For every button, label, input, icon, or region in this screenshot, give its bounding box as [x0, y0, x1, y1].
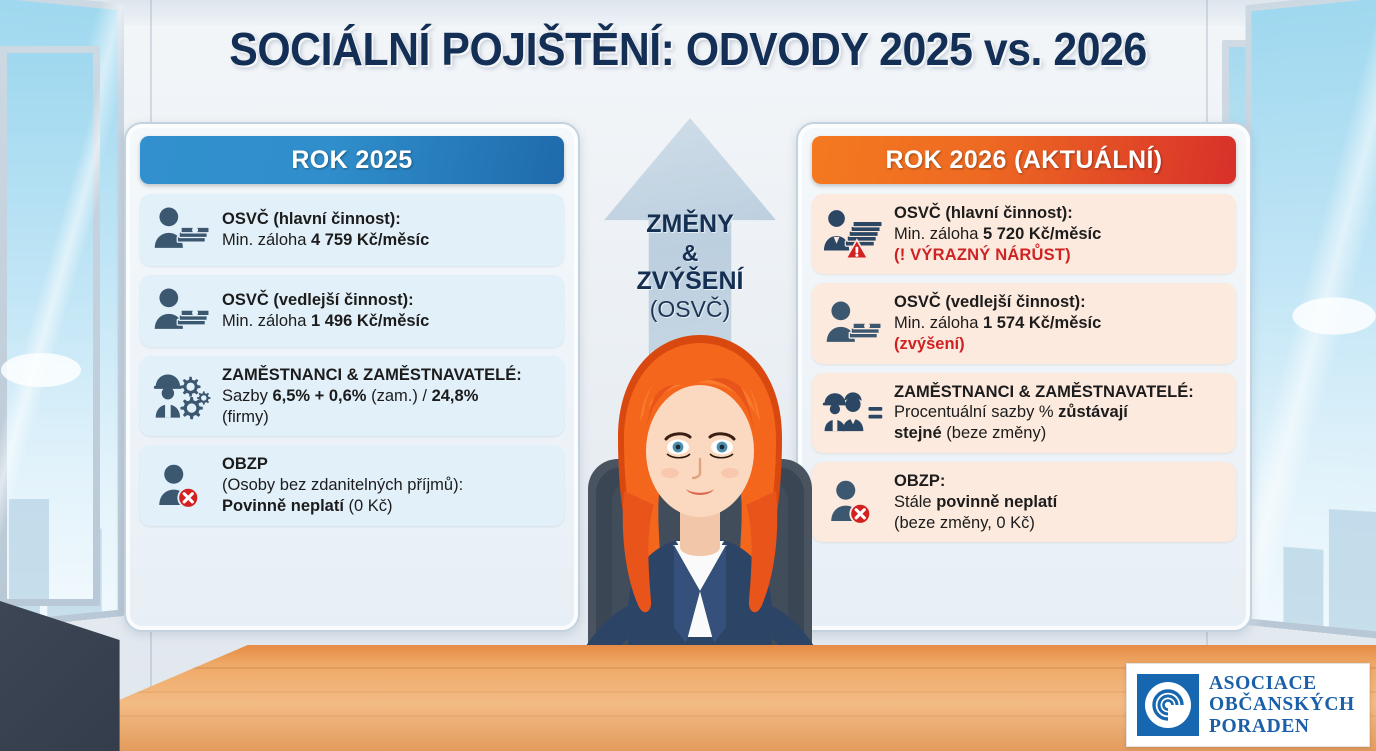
spiral-circle-icon — [1137, 674, 1199, 736]
card-osvc-hlavni-2026[interactable]: OSVČ (hlavní činnost): Min. záloha 5 720… — [812, 194, 1236, 274]
panel-header-2026: ROK 2026 (AKTUÁLNÍ) — [812, 136, 1236, 184]
card-line2: (Osoby bez zdanitelných příjmů): — [222, 475, 463, 496]
card-text: OSVČ (hlavní činnost): Min. záloha 5 720… — [894, 203, 1101, 265]
card-line2: Min. záloha 4 759 Kč/měsíc — [222, 230, 429, 251]
card-line3: (beze změny, 0 Kč) — [894, 513, 1057, 534]
card-text: OSVČ (hlavní činnost): Min. záloha 4 759… — [222, 209, 429, 251]
card-line3-alert: (zvýšení) — [894, 334, 1101, 355]
infographic-canvas: SOCIÁLNÍ POJIŠTĚNÍ: ODVODY 2025 vs. 2026… — [0, 0, 1376, 751]
card-line2: Min. záloha 1 574 Kč/měsíc — [894, 313, 1101, 334]
person-blocked-icon — [150, 459, 212, 513]
card-title: OBZP — [222, 454, 463, 475]
card-title: ZAMĚSTNANCI & ZAMĚSTNAVATELÉ: — [222, 365, 522, 386]
logo-wordmark: ASOCIACE OBČANSKÝCH PORADEN — [1209, 673, 1355, 736]
card-line2: Procentuální sazby % zůstávají — [894, 402, 1194, 423]
logo-line-1: ASOCIACE — [1209, 673, 1355, 694]
card-title: OSVČ (vedlejší činnost): — [222, 290, 429, 311]
window-glass — [1252, 0, 1376, 632]
card-text: OBZP (Osoby bez zdanitelných příjmů): Po… — [222, 454, 463, 516]
building-shape — [1283, 547, 1323, 626]
card-text: OBZP: Stále povinně neplatí (beze změny,… — [894, 471, 1057, 533]
card-line3: stejné (beze změny) — [894, 423, 1194, 444]
card-line3-alert: (! VÝRAZNÝ NÁRŮST) — [894, 245, 1101, 266]
window-left-inner — [0, 46, 100, 606]
organization-logo[interactable]: ASOCIACE OBČANSKÝCH PORADEN — [1126, 663, 1370, 747]
card-osvc-hlavni-2025[interactable]: OSVČ (hlavní činnost): Min. záloha 4 759… — [140, 194, 564, 266]
card-line3: Povinně neplatí (0 Kč) — [222, 496, 463, 517]
businessman-with-money-stack-warning-icon — [822, 207, 884, 261]
card-line2: Sazby 6,5% + 0,6% (zam.) / 24,8% — [222, 386, 522, 407]
building-shape — [1329, 509, 1376, 632]
worker-with-gears-icon — [150, 369, 212, 423]
card-text: ZAMĚSTNANCI & ZAMĚSTNAVATELÉ: Procentuál… — [894, 382, 1194, 444]
person-with-cash-icon — [150, 284, 212, 338]
card-line2: Stále povinně neplatí — [894, 492, 1057, 513]
window-glass — [7, 53, 93, 599]
window-right-outer — [1245, 0, 1376, 640]
logo-line-2: OBČANSKÝCH — [1209, 694, 1355, 715]
card-line3: (firmy) — [222, 407, 522, 428]
arrow-line-1: ZMĚNY — [604, 210, 776, 240]
card-line2: Min. záloha 5 720 Kč/měsíc — [894, 224, 1101, 245]
person-with-cash-icon — [150, 203, 212, 257]
card-title: ZAMĚSTNANCI & ZAMĚSTNAVATELÉ: — [894, 382, 1194, 403]
card-line2: Min. záloha 1 496 Kč/měsíc — [222, 311, 429, 332]
arrow-line-3: ZVÝŠENÍ — [604, 267, 776, 297]
page-title: SOCIÁLNÍ POJIŠTĚNÍ: ODVODY 2025 vs. 2026 — [48, 22, 1328, 76]
building-shape — [9, 499, 49, 599]
arrow-label: ZMĚNY & ZVÝŠENÍ (OSVČ) — [604, 210, 776, 323]
card-text: OSVČ (vedlejší činnost): Min. záloha 1 5… — [894, 292, 1101, 354]
card-text: ZAMĚSTNANCI & ZAMĚSTNAVATELÉ: Sazby 6,5%… — [222, 365, 522, 427]
card-title: OBZP: — [894, 471, 1057, 492]
card-title: OSVČ (vedlejší činnost): — [894, 292, 1101, 313]
card-title: OSVČ (hlavní činnost): — [894, 203, 1101, 224]
card-title: OSVČ (hlavní činnost): — [222, 209, 429, 230]
panel-header-2025: ROK 2025 — [140, 136, 564, 184]
card-text: OSVČ (vedlejší činnost): Min. záloha 1 4… — [222, 290, 429, 332]
arrow-line-2: & — [604, 240, 776, 267]
logo-line-3: PORADEN — [1209, 716, 1355, 737]
